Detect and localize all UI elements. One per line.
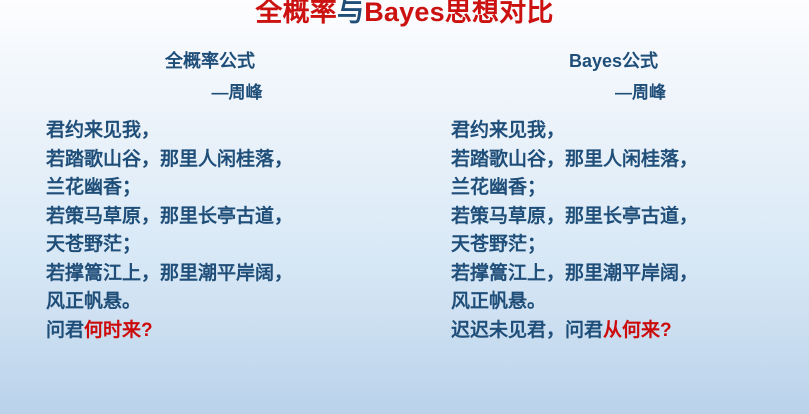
poem-line: 若策马草原，那里长亭古道， [46,203,404,232]
column-author-right: —周峰 [473,84,808,101]
columns-container: 全概率公式 —周峰 君约来见我， 若踏歌山谷，那里人闲桂落， 兰花幽香； 若策马… [0,52,809,414]
poem-line: 君约来见我， [451,117,808,146]
poem-line-text: 若策马草原，那里长亭古道， [451,206,698,227]
poem-line-text: 若撑篙江上，那里潮平岸阔， [46,263,293,284]
poem-line-highlight: 从何来? [603,320,672,341]
poem-line-text: 天苍野茫； [451,234,546,255]
poem-line-highlight: 何时来? [84,320,153,341]
poem-line: 风正帆悬。 [46,288,404,317]
column-heading-left: 全概率公式 [16,52,404,70]
poem-line: 若撑篙江上，那里潮平岸阔， [451,260,808,289]
poem-line-text: 迟迟未见君，问君 [451,320,603,341]
poem-line: 君约来见我， [46,117,404,146]
poem-line: 若踏歌山谷，那里人闲桂落， [451,146,808,175]
poem-line-text: 若策马草原，那里长亭古道， [46,206,293,227]
column-heading-right: Bayes公式 [419,52,808,70]
poem-line: 天苍野茫； [46,231,404,260]
poem-line-text: 风正帆悬。 [451,291,546,312]
page-title-text: 全概率与Bayes思想对比 [255,0,553,27]
poem-line-text: 君约来见我， [451,120,565,141]
page-title-segment-navy: 与 [337,0,364,27]
page-title: 全概率与Bayes思想对比 [0,0,809,27]
page-title-segment-red-2: Bayes思想对比 [364,0,553,27]
poem-line-text: 若撑篙江上，那里潮平岸阔， [451,263,698,284]
poem-line-text: 君约来见我， [46,120,160,141]
poem-line: 若策马草原，那里长亭古道， [451,203,808,232]
column-author-left: —周峰 [70,84,404,101]
poem-line-question: 问君何时来? [46,317,404,346]
poem-line-text: 若踏歌山谷，那里人闲桂落， [451,149,698,170]
poem-right: 君约来见我， 若踏歌山谷，那里人闲桂落， 兰花幽香； 若策马草原，那里长亭古道，… [451,117,808,345]
poem-left: 君约来见我， 若踏歌山谷，那里人闲桂落， 兰花幽香； 若策马草原，那里长亭古道，… [46,117,404,345]
poem-line: 兰花幽香； [46,174,404,203]
poem-line-text: 天苍野茫； [46,234,141,255]
column-bayes: Bayes公式 —周峰 君约来见我， 若踏歌山谷，那里人闲桂落， 兰花幽香； 若… [404,52,808,414]
poem-line-text: 问君 [46,320,84,341]
slide-root: 全概率与Bayes思想对比 全概率公式 —周峰 君约来见我， 若踏歌山谷，那里人… [0,0,809,414]
page-title-segment-red-1: 全概率 [255,0,337,27]
poem-line-question: 迟迟未见君，问君从何来? [451,317,808,346]
poem-line: 天苍野茫； [451,231,808,260]
poem-line-text: 若踏歌山谷，那里人闲桂落， [46,149,293,170]
poem-line-text: 兰花幽香； [451,177,546,198]
column-total-probability: 全概率公式 —周峰 君约来见我， 若踏歌山谷，那里人闲桂落， 兰花幽香； 若策马… [0,52,404,414]
poem-line-text: 风正帆悬。 [46,291,141,312]
poem-line: 若撑篙江上，那里潮平岸阔， [46,260,404,289]
poem-line: 风正帆悬。 [451,288,808,317]
poem-line: 若踏歌山谷，那里人闲桂落， [46,146,404,175]
poem-line-text: 兰花幽香； [46,177,141,198]
poem-line: 兰花幽香； [451,174,808,203]
